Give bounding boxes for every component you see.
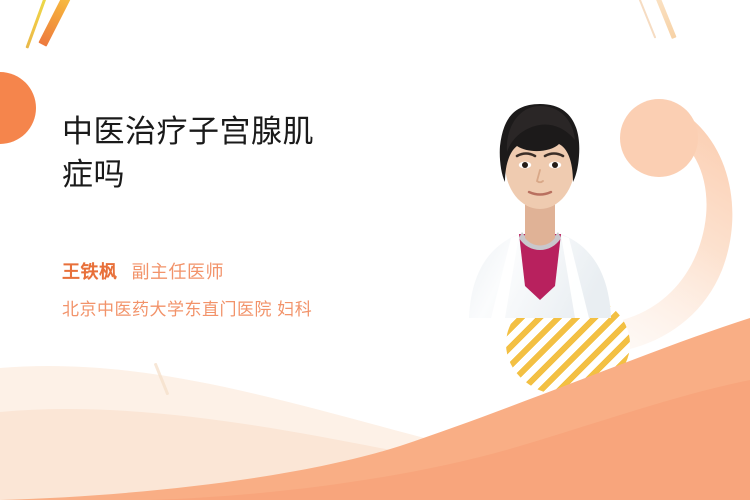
wave-decoration-bottom bbox=[0, 310, 750, 500]
doctor-portrait bbox=[455, 86, 625, 318]
page-title: 中医治疗子宫腺肌 症吗 bbox=[62, 110, 412, 196]
doctor-name: 王铁枫 bbox=[62, 258, 118, 284]
streak-decoration-top-right-thick bbox=[652, 0, 676, 39]
peach-arc-cap-decoration bbox=[620, 99, 698, 177]
streak-decoration-top-left-thick bbox=[38, 0, 74, 47]
doctor-byline: 王铁枫 副主任医师 bbox=[62, 258, 412, 284]
orange-circle-decoration bbox=[0, 72, 36, 144]
streak-decoration-top-right-thin bbox=[636, 0, 657, 39]
video-thumbnail-card: 中医治疗子宫腺肌 症吗 王铁枫 副主任医师 北京中医药大学东直门医院 妇科 bbox=[0, 0, 750, 500]
doctor-affiliation: 北京中医药大学东直门医院 妇科 bbox=[62, 295, 412, 320]
text-block: 中医治疗子宫腺肌 症吗 王铁枫 副主任医师 北京中医药大学东直门医院 妇科 bbox=[62, 110, 412, 320]
doctor-rank: 副主任医师 bbox=[132, 258, 225, 284]
streak-decoration-bottom-left bbox=[154, 363, 170, 396]
streak-decoration-top-left-thin bbox=[25, 0, 49, 49]
